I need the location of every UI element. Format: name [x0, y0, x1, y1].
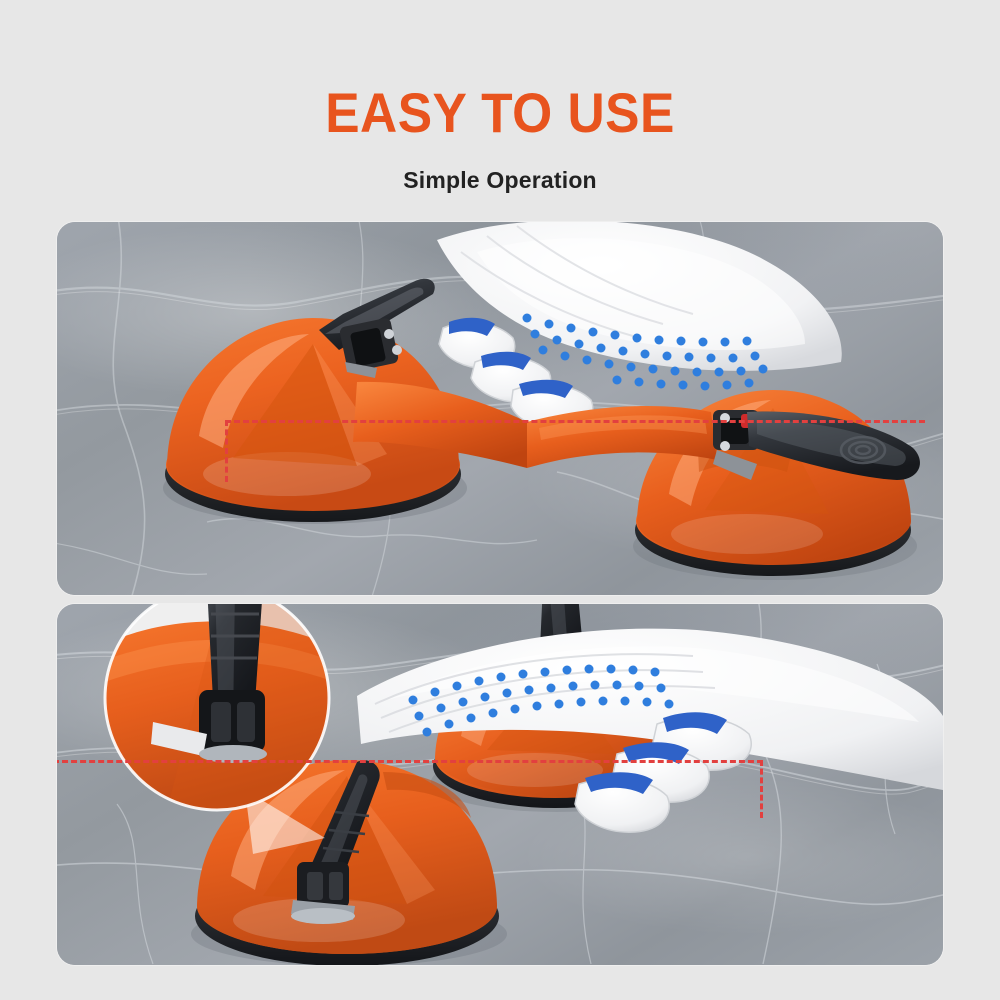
infographic-page: EASY TO USE Simple Operation [0, 0, 1000, 1000]
callout-dash-horizontal-2 [57, 760, 763, 763]
page-subtitle: Simple Operation [0, 167, 1000, 193]
callout-dash-horizontal-1 [225, 420, 925, 423]
suction-cups-illustration-1 [57, 222, 943, 595]
header-block: EASY TO USE Simple Operation [0, 0, 1000, 215]
suction-cups-illustration-2 [57, 604, 943, 965]
panel-lift-levers: Lift the levers to release suction [57, 604, 943, 965]
page-title: EASY TO USE [40, 84, 960, 142]
callout-dash-vertical-1 [225, 420, 228, 482]
callout-dash-vertical-2 [760, 760, 763, 818]
panel-press-down-levers: Press down levers to gain suction [57, 222, 943, 595]
